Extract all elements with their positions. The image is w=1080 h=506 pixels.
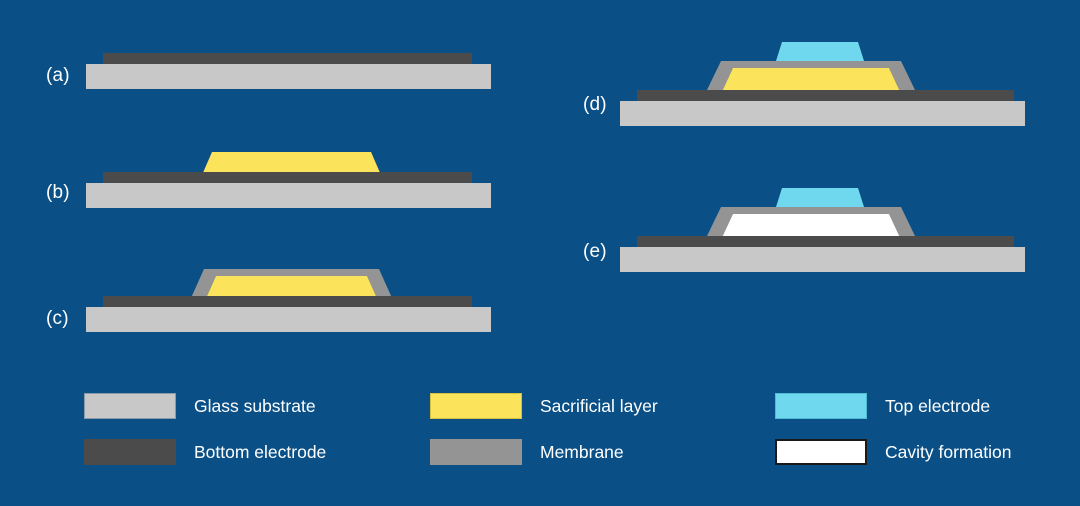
legend-swatch-sacrificial-layer <box>430 393 522 419</box>
panel-e-glass-substrate <box>620 247 1025 272</box>
legend-label-bottom-electrode: Bottom electrode <box>194 442 326 463</box>
panel-label-a: (a) <box>46 65 70 87</box>
panel-a-glass-substrate <box>86 64 491 89</box>
panel-b-graphic <box>86 152 491 208</box>
panel-c-bottom-electrode <box>103 296 472 307</box>
legend-swatch-cavity-formation <box>775 439 867 465</box>
panel-b-sacrificial-layer <box>202 152 381 175</box>
legend-label-top-electrode: Top electrode <box>885 396 990 417</box>
legend-swatch-bottom-electrode <box>84 439 176 465</box>
panel-a-graphic <box>86 53 491 89</box>
panel-e-bottom-electrode <box>637 236 1014 247</box>
legend-swatch-top-electrode <box>775 393 867 419</box>
legend-item-top-electrode: Top electrode <box>775 393 990 419</box>
legend-label-cavity-formation: Cavity formation <box>885 442 1011 463</box>
process-flow-figure: (a) (b) (c) (d) (e) Glass substrate Bott… <box>0 0 1080 506</box>
legend-item-cavity-formation: Cavity formation <box>775 439 1011 465</box>
panel-e-top-electrode <box>776 188 864 207</box>
panel-b-glass-substrate <box>86 183 491 208</box>
panel-b-bottom-electrode <box>103 172 472 183</box>
panel-label-b: (b) <box>46 182 70 204</box>
panel-label-e: (e) <box>583 241 607 263</box>
legend-item-sacrificial-layer: Sacrificial layer <box>430 393 658 419</box>
panel-d-bottom-electrode <box>637 90 1014 101</box>
legend-swatch-membrane <box>430 439 522 465</box>
legend-label-glass-substrate: Glass substrate <box>194 396 316 417</box>
panel-d-graphic <box>620 42 1025 126</box>
panel-d-glass-substrate <box>620 101 1025 126</box>
legend-label-membrane: Membrane <box>540 442 624 463</box>
legend-item-bottom-electrode: Bottom electrode <box>84 439 326 465</box>
panel-c-graphic <box>86 269 491 332</box>
panel-d-top-electrode <box>776 42 864 61</box>
legend-label-sacrificial-layer: Sacrificial layer <box>540 396 658 417</box>
panel-label-c: (c) <box>46 308 69 330</box>
panel-label-d: (d) <box>583 94 607 116</box>
legend-item-glass-substrate: Glass substrate <box>84 393 316 419</box>
panel-c-glass-substrate <box>86 307 491 332</box>
legend-item-membrane: Membrane <box>430 439 624 465</box>
panel-e-graphic <box>620 188 1025 272</box>
legend-swatch-glass-substrate <box>84 393 176 419</box>
panel-a-bottom-electrode <box>103 53 472 64</box>
process-flow-diagram <box>0 0 1080 506</box>
